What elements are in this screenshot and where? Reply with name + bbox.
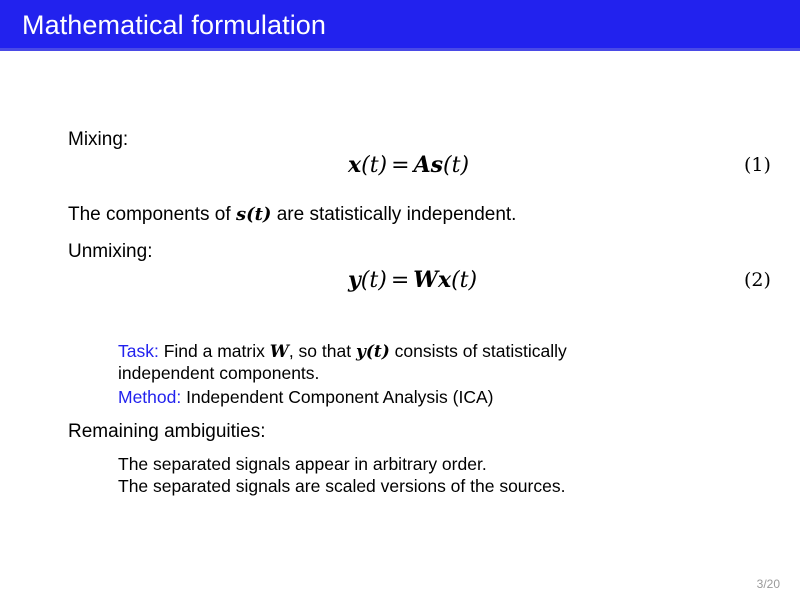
- eq2-lhs-vector: y: [348, 267, 361, 293]
- task-math-2: y(t): [356, 342, 390, 362]
- method-text: Independent Component Analysis (ICA): [181, 387, 493, 407]
- slide-body: Mixing: x(t)=As(t) (1) The components of…: [0, 48, 800, 600]
- mixing-label: Mixing:: [68, 128, 128, 151]
- eq1-lhs-vector: x: [348, 152, 361, 178]
- eq1-rhs-matrix: A: [414, 152, 431, 178]
- presentation-slide: Mathematical formulation Mixing: x(t)=As…: [0, 0, 800, 600]
- equation-2: y(t)=Wx(t): [348, 267, 477, 293]
- independence-after: are statistically independent.: [271, 204, 516, 225]
- method-line: Method: Independent Component Analysis (…: [118, 387, 494, 408]
- independence-before: The components of: [68, 204, 236, 225]
- ambiguities-label: Remaining ambiguities:: [68, 420, 266, 443]
- task-label: Task:: [118, 341, 159, 361]
- task-math-1: W: [270, 342, 289, 362]
- task-part-3: consists of statistically: [390, 341, 567, 361]
- page-number: 3/20: [757, 577, 780, 591]
- independence-sentence: The components of s(t) are statistically…: [68, 203, 516, 226]
- eq2-relation: =: [387, 268, 413, 293]
- task-part-2: , so that: [289, 341, 356, 361]
- eq2-rhs-vector: x: [438, 267, 451, 293]
- method-label: Method:: [118, 387, 181, 407]
- unmixing-label: Unmixing:: [68, 240, 152, 263]
- equation-1: x(t)=As(t): [348, 152, 469, 178]
- ambiguity-item-2: The separated signals are scaled version…: [118, 476, 565, 497]
- independence-math: s(t): [236, 204, 271, 225]
- task-line-1: Task: Find a matrix W, so that y(t) cons…: [118, 341, 567, 363]
- eq2-rhs-matrix: W: [413, 267, 438, 293]
- eq1-relation: =: [387, 153, 413, 178]
- ambiguity-item-1: The separated signals appear in arbitrar…: [118, 454, 487, 475]
- eq2-rhs-arg: (t): [451, 268, 477, 293]
- task-part-1: Find a matrix: [159, 341, 270, 361]
- eq1-rhs-arg: (t): [443, 153, 469, 178]
- eq1-rhs-vector: s: [431, 152, 443, 178]
- task-line-2: independent components.: [118, 363, 319, 384]
- equation-2-number: (2): [744, 269, 771, 291]
- eq2-lhs-arg: (t): [361, 268, 387, 293]
- eq1-lhs-arg: (t): [361, 153, 387, 178]
- page-title: Mathematical formulation: [22, 9, 326, 41]
- equation-1-number: (1): [744, 154, 771, 176]
